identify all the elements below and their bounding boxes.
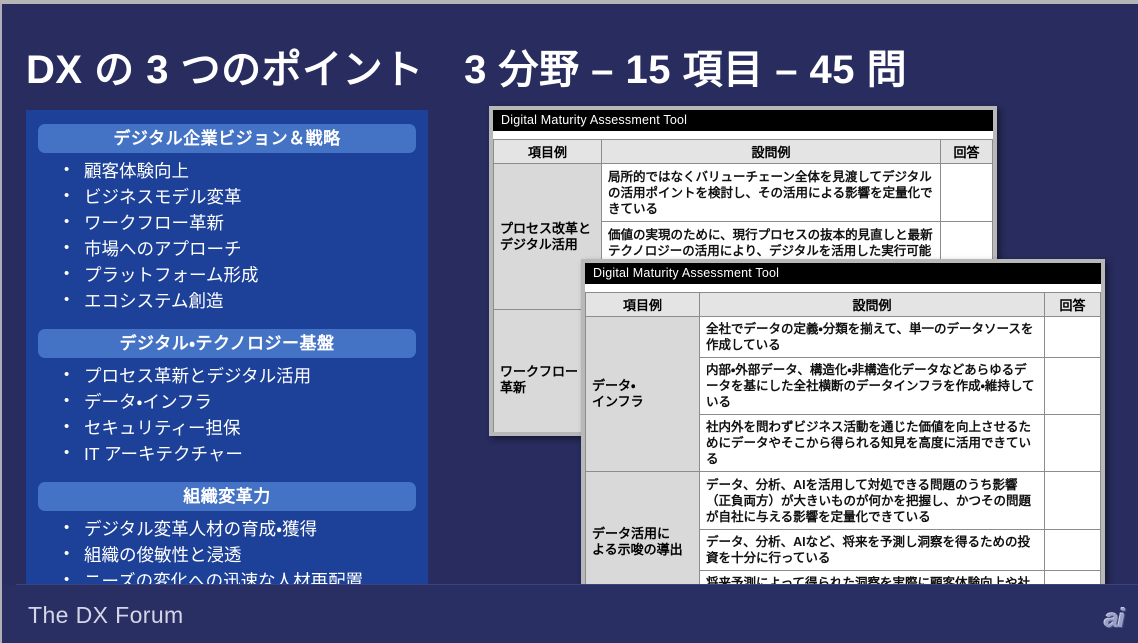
cell-question: 全社でデータの定義・分類を揃えて、単一のデータソースを作成している [700, 317, 1045, 358]
list-item: 組織の俊敏性と浸透 [62, 542, 428, 568]
list-item: IT アーキテクチャー [62, 441, 428, 467]
list-item: プラットフォーム形成 [62, 262, 428, 288]
table-row: データ活用に よる示唆の導出 データ、分析、AIを活用して対処できる問題のうち影… [586, 472, 1101, 530]
cell-answer[interactable] [1045, 358, 1101, 415]
list-item: ビジネスモデル変革 [62, 184, 428, 210]
cell-question: 局所的ではなくバリューチェーン全体を見渡してデジタルの活用ポイントを検討し、その… [602, 164, 941, 222]
cell-category: データ活用に よる示唆の導出 [586, 472, 700, 591]
window-toolbar-strip [585, 284, 1101, 292]
column-header-question: 設問例 [700, 293, 1045, 317]
group-header-vision: デジタル企業ビジョン＆戦略 [38, 124, 416, 153]
assessment-tool-window-front[interactable]: Digital Maturity Assessment Tool 項目例 設問例… [581, 259, 1105, 594]
column-header-answer: 回答 [1045, 293, 1101, 317]
window-titlebar: Digital Maturity Assessment Tool [493, 110, 993, 131]
group-list-vision: 顧客体験向上 ビジネスモデル変革 ワークフロー革新 市場へのアプローチ プラット… [26, 158, 428, 314]
cell-answer[interactable] [941, 164, 993, 222]
page-title: DX の 3 つのポイント 3 分野 – 15 項目 – 45 問 [26, 44, 1076, 96]
list-item: 顧客体験向上 [62, 158, 428, 184]
column-header-answer: 回答 [941, 140, 993, 164]
cell-question: 内部・外部データ、構造化・非構造化データなどあらゆるデータを基にした全社横断のデ… [700, 358, 1045, 415]
cell-category: データ・ インフラ [586, 317, 700, 472]
window-body: Digital Maturity Assessment Tool 項目例 設問例… [585, 263, 1101, 590]
window-titlebar: Digital Maturity Assessment Tool [585, 263, 1101, 284]
footer-brand: The DX Forum [28, 602, 184, 629]
list-item: セキュリティー担保 [62, 415, 428, 441]
slide-canvas: DX の 3 つのポイント 3 分野 – 15 項目 – 45 問 デジタル企業… [0, 0, 1138, 643]
list-item: デジタル変革人材の育成・獲得 [62, 516, 428, 542]
column-header-item: 項目例 [586, 293, 700, 317]
cell-question: データ、分析、AIなど、将来を予測し洞察を得るための投資を十分に行っている [700, 530, 1045, 571]
window-toolbar-strip [493, 131, 993, 139]
cell-answer[interactable] [1045, 317, 1101, 358]
list-item: ワークフロー革新 [62, 210, 428, 236]
group-header-organization: 組織変革力 [38, 482, 416, 511]
table-row: データ・ インフラ 全社でデータの定義・分類を揃えて、単一のデータソースを作成し… [586, 317, 1101, 358]
three-points-panel: デジタル企業ビジョン＆戦略 顧客体験向上 ビジネスモデル変革 ワークフロー革新 … [26, 110, 428, 592]
table-header-row: 項目例 設問例 回答 [586, 293, 1101, 317]
list-item: 市場へのアプローチ [62, 236, 428, 262]
cell-answer[interactable] [1045, 472, 1101, 530]
table-row: プロセス改革と デジタル活用 局所的ではなくバリューチェーン全体を見渡してデジタ… [494, 164, 993, 222]
list-item: プロセス革新とデジタル活用 [62, 363, 428, 389]
cell-question: 社内外を問わずビジネス活動を通じた価値を向上させるためにデータやそこから得られる… [700, 415, 1045, 472]
cell-answer[interactable] [1045, 415, 1101, 472]
group-header-technology: デジタル・テクノロジー基盤 [38, 329, 416, 358]
assessment-table-front: 項目例 設問例 回答 データ・ インフラ 全社でデータの定義・分類を揃えて、単一… [585, 292, 1101, 590]
column-header-item: 項目例 [494, 140, 602, 164]
cell-question: データ、分析、AIを活用して対処できる問題のうち影響（正負両方）が大きいものが何… [700, 472, 1045, 530]
list-item: データ・インフラ [62, 389, 428, 415]
list-item: エコシステム創造 [62, 288, 428, 314]
table-header-row: 項目例 設問例 回答 [494, 140, 993, 164]
ai-logo-icon: ai [1080, 603, 1124, 633]
column-header-question: 設問例 [602, 140, 941, 164]
group-list-technology: プロセス革新とデジタル活用 データ・インフラ セキュリティー担保 IT アーキテ… [26, 363, 428, 467]
cell-answer[interactable] [1045, 530, 1101, 571]
